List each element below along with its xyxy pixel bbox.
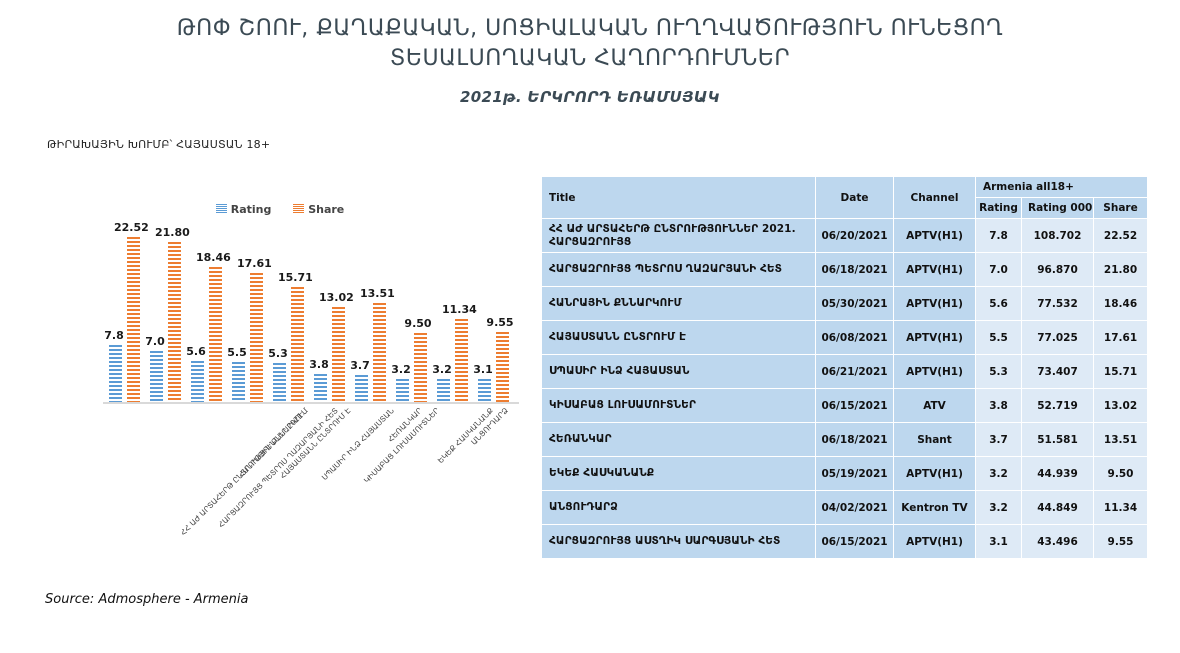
cell-date: 06/15/2021 [816,389,894,423]
bar-group: 5.618.46 [187,230,228,402]
bar-share [455,319,468,402]
cell-rating: 5.3 [976,355,1022,389]
cell-rating000: 52.719 [1022,389,1094,423]
cell-rating000: 77.025 [1022,321,1094,355]
cell-title: ԵԿԵՔ ՀԱՍԿԱՆԱՆՔ [542,457,816,491]
bar-label-share: 11.34 [442,303,476,316]
bar-label-rating: 5.6 [179,345,213,358]
table-header-row-top: Title Date Channel Armenia all18+ [542,177,1148,198]
bar-group: 3.19.55 [474,230,515,402]
page-title: ԹՈՓ ՇՈՈՒ, ՔԱՂԱՔԱԿԱՆ, ՍՈՑԻԱԼԱԿԱՆ ՈՒՂՂՎԱԾՈ… [0,14,1180,74]
cell-share: 13.51 [1094,423,1148,457]
bar-rating [437,379,450,402]
bar-group: 3.813.02 [310,230,351,402]
bar-rating [273,363,286,402]
bar-label-rating: 3.2 [425,363,459,376]
cell-rating000: 96.870 [1022,253,1094,287]
cell-channel: APTV(H1) [894,355,976,389]
bar-rating [150,351,163,402]
ratings-table: Title Date Channel Armenia all18+ Rating… [541,176,1148,559]
column-header-rating: Rating [976,198,1022,219]
bar-rating [396,379,409,402]
x-tick-label: ՀԱՅԱՍՏԱՆՆ ԸՆՏՐՈՒՄ Է [278,406,352,480]
chart-x-tick-labels: ՀՀ ԱԺ ԱՐՏԱՀԵՐԹ ԸՆՏՐՈՒԹՅՈՒՆՆԵՐ 2021...ՀԱՐ… [103,406,533,526]
bar-share [373,303,386,402]
bar-label-share: 9.50 [401,317,435,330]
cell-title: ՀԵՌԱՆԿԱՐ [542,423,816,457]
bar-label-share: 9.55 [483,316,517,329]
cell-share: 21.80 [1094,253,1148,287]
source-note: Source: Admosphere - Armenia [45,592,249,607]
table-row: ԱՆՑՈՒԴԱՐՁ04/02/2021Kentron TV3.244.84911… [542,491,1148,525]
bar-group: 5.315.71 [269,230,310,402]
bar-label-rating: 3.7 [343,359,377,372]
cell-rating000: 44.939 [1022,457,1094,491]
column-header-channel: Channel [894,177,976,219]
cell-date: 06/08/2021 [816,321,894,355]
cell-rating000: 108.702 [1022,219,1094,253]
cell-channel: APTV(H1) [894,253,976,287]
cell-channel: Shant [894,423,976,457]
cell-channel: Kentron TV [894,491,976,525]
cell-title: ՀԱՆՐԱՅԻՆ ՔՆՆԱՐԿՈՒՄ [542,287,816,321]
cell-title: ՀԱՐՑԱԶՐՈՒՅՑ ԱՍՏՂԻԿ ՍԱՐԳՍՅԱՆԻ ՀԵՏ [542,525,816,559]
cell-rating000: 43.496 [1022,525,1094,559]
cell-share: 15.71 [1094,355,1148,389]
cell-date: 05/19/2021 [816,457,894,491]
legend-swatch-share-icon [293,204,304,214]
x-tick-label: ԿԻՍԱԲԱՑ ԼՈՒՍԱՄՈՒՏՆԵՐ [362,406,441,485]
cell-date: 06/18/2021 [816,253,894,287]
cell-title: ԱՆՑՈՒԴԱՐՁ [542,491,816,525]
cell-channel: APTV(H1) [894,287,976,321]
bar-rating [109,345,122,402]
column-header-rating000: Rating 000 [1022,198,1094,219]
bar-label-share: 17.61 [237,257,271,270]
cell-title: ՀԱՅԱՍՏԱՆՆ ԸՆՏՐՈՒՄ Է [542,321,816,355]
cell-channel: ATV [894,389,976,423]
cell-title: ՀՀ ԱԺ ԱՐՏԱՀԵՐԹ ԸՆՏՐՈՒԹՅՈՒՆՆԵՐ 2021. ՀԱՐՑ… [542,219,816,253]
target-group-label: ԹԻՐԱԽԱՅԻՆ ԽՈՒՄԲ՝ ՀԱՅԱՍՏԱՆ 18+ [47,138,270,151]
cell-date: 06/21/2021 [816,355,894,389]
legend-swatch-rating-icon [216,204,227,214]
cell-date: 05/30/2021 [816,287,894,321]
bar-label-rating: 7.8 [97,329,131,342]
bar-label-share: 18.46 [196,251,230,264]
table-row: ՀԱՐՑԱԶՐՈՒՅՑ ՊԵՏՐՈՍ ՂԱԶԱՐՅԱՆԻ ՀԵՏ06/18/20… [542,253,1148,287]
cell-rating: 3.2 [976,491,1022,525]
bar-label-rating: 3.8 [302,358,336,371]
cell-share: 22.52 [1094,219,1148,253]
table-body: ՀՀ ԱԺ ԱՐՏԱՀԵՐԹ ԸՆՏՐՈՒԹՅՈՒՆՆԵՐ 2021. ՀԱՐՑ… [542,219,1148,559]
cell-rating000: 77.532 [1022,287,1094,321]
cell-share: 9.50 [1094,457,1148,491]
cell-date: 06/15/2021 [816,525,894,559]
bar-label-share: 13.02 [319,291,353,304]
cell-title: ԿԻՍԱԲԱՑ ԼՈՒՍԱՄՈՒՏՆԵՐ [542,389,816,423]
x-tick-label: ՀԱՐՑԱԶՐՈՒՅՑ ՊԵՏՐՈՍ ՂԱԶԱՐՅԱՆԻ ՀԵՏ [216,406,339,529]
table-row: ՀԱՐՑԱԶՐՈՒՅՑ ԱՍՏՂԻԿ ՍԱՐԳՍՅԱՆԻ ՀԵՏ06/15/20… [542,525,1148,559]
cell-channel: APTV(H1) [894,321,976,355]
bar-share [250,273,263,402]
cell-rating000: 51.581 [1022,423,1094,457]
table-row: ԵԿԵՔ ՀԱՍԿԱՆԱՆՔ05/19/2021APTV(H1)3.244.93… [542,457,1148,491]
column-header-title: Title [542,177,816,219]
bar-group: 7.822.52 [105,230,146,402]
cell-date: 06/20/2021 [816,219,894,253]
cell-share: 18.46 [1094,287,1148,321]
page-title-line1: ԹՈՓ ՇՈՈՒ, ՔԱՂԱՔԱԿԱՆ, ՍՈՑԻԱԼԱԿԱՆ ՈՒՂՂՎԱԾՈ… [177,16,1004,41]
bar-rating [355,375,368,402]
table-row: ՀԱՆՐԱՅԻՆ ՔՆՆԱՐԿՈՒՄ05/30/2021APTV(H1)5.67… [542,287,1148,321]
bar-label-rating: 3.1 [466,363,500,376]
cell-rating: 7.8 [976,219,1022,253]
cell-rating: 5.5 [976,321,1022,355]
bar-rating [478,379,491,402]
legend-item-share: Share [293,203,344,216]
legend-label-share: Share [308,203,344,216]
bar-label-share: 22.52 [114,221,148,234]
legend-label-rating: Rating [231,203,272,216]
bar-rating [191,361,204,402]
table-row: ԿԻՍԱԲԱՑ ԼՈՒՍԱՄՈՒՏՆԵՐ06/15/2021ATV3.852.7… [542,389,1148,423]
column-header-share: Share [1094,198,1148,219]
bar-label-share: 15.71 [278,271,312,284]
column-header-date: Date [816,177,894,219]
bar-share [209,267,222,402]
cell-rating000: 73.407 [1022,355,1094,389]
bar-label-rating: 3.2 [384,363,418,376]
cell-rating: 3.8 [976,389,1022,423]
cell-channel: APTV(H1) [894,525,976,559]
page-title-line2: ՏԵՍԱԼՍՈՂԱԿԱՆ ՀԱՂՈՐԴՈՒՄՆԵՐ [0,44,1180,74]
bar-chart: Rating Share 7.822.527.021.805.618.465.5… [20,170,540,530]
slide-root: ԹՈՓ ՇՈՈՒ, ՔԱՂԱՔԱԿԱՆ, ՍՈՑԻԱԼԱԿԱՆ ՈՒՂՂՎԱԾՈ… [0,0,1180,653]
bar-group: 3.713.51 [351,230,392,402]
page-subtitle: 2021թ. ԵՐԿՐՈՐԴ ԵՌԱՄՍՅԱԿ [0,88,1180,106]
bar-label-rating: 5.3 [261,347,295,360]
chart-legend: Rating Share [20,203,540,216]
cell-rating: 3.2 [976,457,1022,491]
cell-rating: 5.6 [976,287,1022,321]
bar-label-rating: 7.0 [138,335,172,348]
bar-group: 7.021.80 [146,230,187,402]
cell-date: 06/18/2021 [816,423,894,457]
bar-group: 3.29.50 [392,230,433,402]
chart-plot-area: 7.822.527.021.805.618.465.517.615.315.71… [103,230,513,402]
bar-rating [232,362,245,402]
cell-share: 11.34 [1094,491,1148,525]
table-row: ՍՊԱՍԻՐ ԻՆՁ ՀԱՅԱՍՏԱՆ06/21/2021APTV(H1)5.3… [542,355,1148,389]
bar-rating [314,374,327,402]
chart-x-axis [103,402,519,404]
bar-label-share: 13.51 [360,287,394,300]
bar-label-share: 21.80 [155,226,189,239]
cell-share: 13.02 [1094,389,1148,423]
legend-item-rating: Rating [216,203,272,216]
cell-rating: 3.1 [976,525,1022,559]
ratings-table-wrapper: Title Date Channel Armenia all18+ Rating… [541,176,1147,559]
table-row: ՀՀ ԱԺ ԱՐՏԱՀԵՐԹ ԸՆՏՐՈՒԹՅՈՒՆՆԵՐ 2021. ՀԱՐՑ… [542,219,1148,253]
cell-share: 9.55 [1094,525,1148,559]
cell-rating: 3.7 [976,423,1022,457]
table-row: ՀԱՅԱՍՏԱՆՆ ԸՆՏՐՈՒՄ Է06/08/2021APTV(H1)5.5… [542,321,1148,355]
cell-channel: APTV(H1) [894,219,976,253]
cell-date: 04/02/2021 [816,491,894,525]
column-header-group-armenia: Armenia all18+ [976,177,1148,198]
bar-label-rating: 5.5 [220,346,254,359]
cell-share: 17.61 [1094,321,1148,355]
table-row: ՀԵՌԱՆԿԱՐ06/18/2021Shant3.751.58113.51 [542,423,1148,457]
cell-rating: 7.0 [976,253,1022,287]
bar-share [332,307,345,402]
cell-rating000: 44.849 [1022,491,1094,525]
bar-share [168,242,181,402]
bar-share [127,237,140,402]
bar-share [291,287,304,402]
cell-title: ՀԱՐՑԱԶՐՈՒՅՑ ՊԵՏՐՈՍ ՂԱԶԱՐՅԱՆԻ ՀԵՏ [542,253,816,287]
cell-channel: APTV(H1) [894,457,976,491]
bar-group: 5.517.61 [228,230,269,402]
cell-title: ՍՊԱՍԻՐ ԻՆՁ ՀԱՅԱՍՏԱՆ [542,355,816,389]
